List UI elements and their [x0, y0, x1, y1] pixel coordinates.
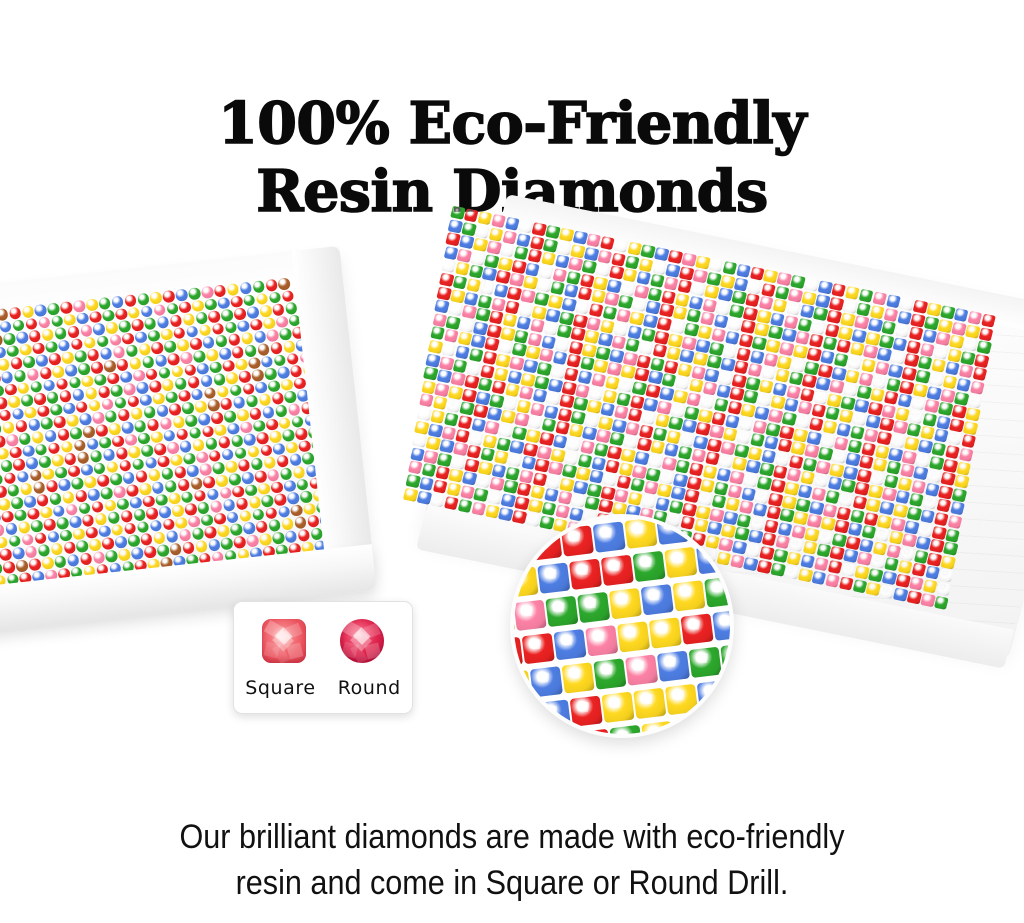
drill-bead — [219, 347, 232, 360]
drill-bead — [627, 408, 642, 422]
drill-bead — [570, 244, 585, 258]
drill-bead — [165, 391, 178, 404]
drill-bead — [956, 378, 971, 392]
drill-bead — [560, 478, 575, 492]
drill-bead — [290, 504, 303, 517]
drill-bead — [9, 535, 22, 548]
drill-bead — [458, 499, 473, 513]
drill-bead — [175, 289, 188, 302]
drill-bead — [83, 337, 96, 350]
drill-bead — [286, 353, 299, 366]
drill-bead — [673, 390, 688, 404]
drill-bead — [532, 472, 547, 486]
drill-bead — [39, 455, 52, 468]
drill-bead — [734, 277, 749, 291]
magnified-drill-bead — [696, 543, 729, 574]
drill-bead — [827, 560, 842, 574]
drill-bead — [91, 500, 104, 513]
drill-bead — [598, 249, 613, 263]
drill-bead — [725, 414, 740, 428]
drill-bead — [967, 311, 982, 325]
drill-bead — [230, 523, 243, 536]
drill-bead — [167, 442, 180, 455]
drill-bead — [750, 516, 765, 530]
drill-bead — [806, 347, 821, 361]
drill-bead — [491, 214, 506, 228]
drill-bead — [782, 412, 797, 426]
drill-bead — [284, 391, 297, 404]
drill-bead — [923, 579, 938, 593]
drill-bead — [575, 467, 590, 481]
drill-bead — [602, 306, 617, 320]
drill-bead — [623, 268, 638, 282]
drill-bead — [748, 447, 763, 461]
drill-bead — [568, 257, 583, 271]
drill-bead — [36, 354, 49, 367]
drill-bead — [562, 464, 577, 478]
drill-bead — [659, 304, 674, 318]
drill-bead — [836, 506, 851, 520]
drill-bead — [829, 296, 844, 310]
drill-bead — [571, 411, 586, 425]
drill-bead — [729, 304, 744, 318]
drill-bead — [967, 394, 982, 408]
drill-bead — [530, 402, 545, 416]
drill-bead — [552, 351, 567, 365]
drill-bead — [1, 371, 14, 384]
drill-bead — [727, 317, 742, 331]
drill-bead — [780, 509, 795, 523]
magnified-drill-bead — [641, 584, 674, 615]
drill-bead — [158, 366, 171, 379]
drill-bead — [498, 507, 513, 521]
drill-bead — [761, 283, 776, 297]
drill-bead — [265, 507, 278, 520]
drill-bead — [193, 350, 206, 363]
drill-bead — [111, 524, 124, 537]
drill-bead — [634, 368, 649, 382]
drill-bead — [852, 496, 867, 510]
magnified-drill-bead — [514, 600, 547, 631]
drill-bead — [748, 530, 763, 544]
drill-bead — [797, 401, 812, 415]
drill-bead — [271, 392, 284, 405]
drill-bead — [226, 372, 239, 385]
drill-bead — [693, 269, 708, 283]
drill-bead — [535, 459, 550, 473]
drill-bead — [293, 466, 306, 479]
drill-bead — [16, 559, 29, 572]
drill-bead — [500, 327, 515, 341]
drill-bead — [453, 442, 468, 456]
drill-bead — [579, 274, 594, 288]
drill-bead — [872, 291, 887, 305]
drill-bead — [501, 493, 516, 507]
drill-bead — [573, 480, 588, 494]
drill-bead — [103, 360, 116, 373]
drill-bead — [7, 484, 20, 497]
drill-bead — [795, 331, 810, 345]
drill-bead — [464, 375, 479, 389]
drill-bead — [269, 291, 282, 304]
drill-bead — [157, 316, 170, 329]
drill-bead — [141, 444, 154, 457]
drill-bead — [130, 407, 143, 420]
drill-bead — [829, 380, 844, 394]
drill-bead — [73, 528, 86, 541]
drill-bead — [170, 315, 183, 328]
drill-bead — [743, 557, 758, 571]
drill-bead — [102, 309, 115, 322]
drill-bead — [40, 506, 53, 519]
drill-bead — [278, 506, 291, 519]
drill-bead — [250, 318, 263, 331]
drill-bead — [260, 444, 273, 457]
drill-bead — [861, 359, 876, 373]
drill-bead — [410, 447, 425, 461]
drill-bead — [663, 277, 678, 291]
drill-bead — [31, 431, 44, 444]
magnified-drill-bead — [577, 592, 610, 623]
drill-bead — [661, 290, 676, 304]
drill-bead — [695, 339, 710, 353]
magnified-drill-bead — [538, 699, 571, 730]
drill-bead — [582, 343, 597, 357]
drill-bead — [209, 450, 222, 463]
drill-bead — [14, 369, 27, 382]
drill-bead — [78, 363, 91, 376]
drill-bead — [861, 442, 876, 456]
drill-bead — [945, 528, 960, 542]
drill-bead — [706, 272, 721, 286]
drill-bead — [64, 453, 77, 466]
drill-bead — [811, 487, 826, 501]
drill-bead — [541, 418, 556, 432]
drill-bead — [650, 441, 665, 455]
drill-bead — [952, 405, 967, 419]
drill-bead — [528, 499, 543, 513]
drill-bead — [13, 458, 26, 471]
drill-bead — [209, 361, 222, 374]
drill-bead — [963, 338, 978, 352]
magnified-drill-bead — [510, 566, 539, 597]
drill-bead — [198, 413, 211, 426]
drill-bead — [764, 519, 779, 533]
drill-bead — [153, 532, 166, 545]
drill-bead — [911, 480, 926, 494]
drill-bead — [65, 364, 78, 377]
drill-bead — [909, 576, 924, 590]
drill-bead — [19, 344, 32, 357]
drill-bead — [766, 422, 781, 436]
drill-bead — [439, 356, 454, 370]
drill-bead — [938, 402, 953, 416]
drill-bead — [105, 550, 118, 563]
drill-bead — [691, 449, 706, 463]
drill-bead — [621, 448, 636, 462]
drill-bead — [460, 485, 475, 499]
drill-bead — [868, 402, 883, 416]
drill-bead — [512, 426, 527, 440]
drill-bead — [811, 321, 826, 335]
drill-bead — [170, 454, 183, 467]
drill-bead — [41, 557, 54, 570]
magnifier-content — [510, 514, 734, 738]
drill-bead — [286, 441, 299, 454]
drill-bead — [164, 480, 177, 493]
drill-bead — [852, 412, 867, 426]
drill-bead — [455, 429, 470, 443]
drill-bead — [929, 372, 944, 386]
drill-bead — [55, 466, 68, 479]
magnified-drill-bead — [514, 737, 547, 738]
magnified-drill-bead — [593, 521, 626, 552]
drill-bead — [446, 316, 461, 330]
drill-bead — [620, 282, 635, 296]
drill-bead — [91, 361, 104, 374]
drill-bead — [927, 552, 942, 566]
magnified-drill-bead — [510, 670, 531, 701]
drill-bead — [247, 446, 260, 459]
drill-bead — [72, 388, 85, 401]
drill-bead — [811, 404, 826, 418]
drill-bead — [670, 320, 685, 334]
drill-bead — [859, 372, 874, 386]
drill-bead — [28, 419, 41, 432]
drill-bead — [435, 466, 450, 480]
drill-bead — [98, 297, 111, 310]
drill-bead — [240, 421, 253, 434]
drill-bead — [93, 462, 106, 475]
drill-bead — [408, 461, 423, 475]
drill-bead — [144, 317, 157, 330]
drill-bead — [466, 445, 481, 459]
drill-bead — [870, 471, 885, 485]
drill-bead — [113, 485, 126, 498]
drill-bead — [485, 421, 500, 435]
drill-bead — [166, 302, 179, 315]
drill-bead — [184, 364, 197, 377]
drill-bead — [0, 409, 11, 422]
drill-bead — [554, 255, 569, 269]
drill-bead — [732, 457, 747, 471]
drill-bead — [262, 406, 275, 419]
drill-bead — [730, 554, 745, 568]
drill-bead — [965, 407, 980, 421]
drill-bead — [790, 275, 805, 289]
drill-bead — [124, 522, 137, 535]
drill-bead — [722, 261, 737, 275]
drill-bead — [217, 525, 230, 538]
drill-bead — [62, 491, 75, 504]
drill-bead — [797, 318, 812, 332]
drill-bead — [161, 468, 174, 481]
drill-bead — [489, 477, 504, 491]
drill-bead — [279, 328, 292, 341]
drill-bead — [221, 448, 234, 461]
drill-bead — [54, 416, 67, 429]
drill-bead — [600, 319, 615, 333]
drill-bead — [855, 565, 870, 579]
drill-bead — [68, 376, 81, 389]
drill-bead — [101, 398, 114, 411]
square-drill-icon — [262, 619, 306, 663]
drill-bead — [541, 335, 556, 349]
drill-bead — [705, 452, 720, 466]
drill-bead — [777, 272, 792, 286]
drill-bead — [241, 471, 254, 484]
drill-bead — [557, 408, 572, 422]
drill-bead — [202, 336, 215, 349]
drill-bead — [0, 498, 11, 511]
magnified-drill-bead — [641, 721, 674, 738]
drill-bead — [638, 258, 653, 272]
drill-bead — [779, 342, 794, 356]
drill-bead — [768, 326, 783, 340]
drill-bead — [788, 371, 803, 385]
drill-bead — [848, 522, 863, 536]
drill-bead — [927, 386, 942, 400]
drill-bead — [80, 552, 93, 565]
drill-bead — [906, 340, 921, 354]
drill-bead — [900, 464, 915, 478]
drill-bead — [157, 455, 170, 468]
drill-bead — [759, 296, 774, 310]
drill-bead — [670, 403, 685, 417]
drill-bead — [218, 436, 231, 449]
drill-bead — [832, 533, 847, 547]
drill-bead — [543, 238, 558, 252]
drill-bead — [264, 368, 277, 381]
drill-bead — [127, 395, 140, 408]
drill-bead — [546, 308, 561, 322]
drill-bead — [19, 432, 32, 445]
drill-bead — [965, 324, 980, 338]
drill-bead — [70, 427, 83, 440]
drill-bead — [568, 424, 583, 438]
drill-bead — [182, 313, 195, 326]
drill-bead — [110, 473, 123, 486]
drill-bead — [898, 560, 913, 574]
drill-bead — [815, 294, 830, 308]
drill-bead — [85, 387, 98, 400]
drill-bead — [859, 539, 874, 553]
drill-bead — [98, 386, 111, 399]
drill-bead — [504, 217, 519, 231]
drill-bead — [904, 520, 919, 534]
drill-bead — [811, 571, 826, 585]
drill-bead — [555, 338, 570, 352]
drill-bead — [278, 417, 291, 430]
drill-bead — [709, 425, 724, 439]
magnified-drill-bead — [609, 588, 642, 619]
drill-bead — [734, 360, 749, 374]
drill-bead — [256, 432, 269, 445]
drill-bead — [879, 501, 894, 515]
drill-bead — [135, 331, 148, 344]
drill-bead — [537, 445, 552, 459]
drill-bead — [913, 550, 928, 564]
drill-bead — [739, 500, 754, 514]
drill-bead — [934, 429, 949, 443]
drill-bead — [175, 517, 188, 530]
drill-bead — [266, 418, 279, 431]
drill-bead — [171, 365, 184, 378]
drill-bead — [148, 469, 161, 482]
drill-bead — [655, 414, 670, 428]
drill-bead — [813, 474, 828, 488]
drill-bead — [451, 455, 466, 469]
drill-bead — [211, 411, 224, 424]
drill-bead — [584, 413, 599, 427]
drill-bead — [76, 401, 89, 414]
drill-bead — [936, 415, 951, 429]
drill-bead — [695, 255, 710, 269]
drill-bead — [432, 313, 447, 327]
magnified-drill-bead — [697, 680, 730, 711]
drill-bead — [877, 514, 892, 528]
drill-bead — [25, 318, 38, 331]
drill-bead — [863, 512, 878, 526]
drill-bead — [773, 465, 788, 479]
drill-bead — [455, 262, 470, 276]
drill-bead — [883, 308, 898, 322]
drill-bead — [283, 480, 296, 493]
drill-bead — [639, 341, 654, 355]
drill-bead — [46, 391, 59, 404]
drill-bead — [543, 322, 558, 336]
drill-bead — [222, 359, 235, 372]
drill-bead — [81, 464, 94, 477]
magnified-drill-bead — [704, 576, 734, 607]
drill-bead — [89, 539, 102, 552]
drill-bead — [4, 383, 17, 396]
drill-bead — [41, 328, 54, 341]
magnified-drill-bead — [561, 525, 594, 556]
drill-bead — [194, 489, 207, 502]
drill-bead — [716, 468, 731, 482]
drill-bead — [51, 543, 64, 556]
drill-bead — [641, 244, 656, 258]
drill-bead — [539, 265, 554, 279]
drill-bead — [752, 336, 767, 350]
drill-bead — [882, 571, 897, 585]
drill-bead — [516, 233, 531, 247]
drill-bead — [857, 552, 872, 566]
drill-bead — [546, 392, 561, 406]
drill-bead — [434, 299, 449, 313]
drill-bead — [448, 386, 463, 400]
drill-bead — [757, 393, 772, 407]
drill-bead — [645, 301, 660, 315]
drill-bead — [550, 365, 565, 379]
drill-bead — [437, 286, 452, 300]
drill-bead — [573, 230, 588, 244]
drill-bead — [772, 382, 787, 396]
drill-bead — [600, 486, 615, 500]
drill-bead — [750, 433, 765, 447]
drill-bead — [752, 420, 767, 434]
drill-bead — [645, 384, 660, 398]
drill-shape-legend: Square Round — [233, 601, 413, 714]
drill-bead — [605, 376, 620, 390]
drill-bead — [229, 384, 242, 397]
drill-bead — [432, 396, 447, 410]
magnified-drill-bead — [657, 651, 690, 682]
drill-bead — [866, 582, 881, 596]
drill-bead — [634, 451, 649, 465]
drill-bead — [614, 405, 629, 419]
